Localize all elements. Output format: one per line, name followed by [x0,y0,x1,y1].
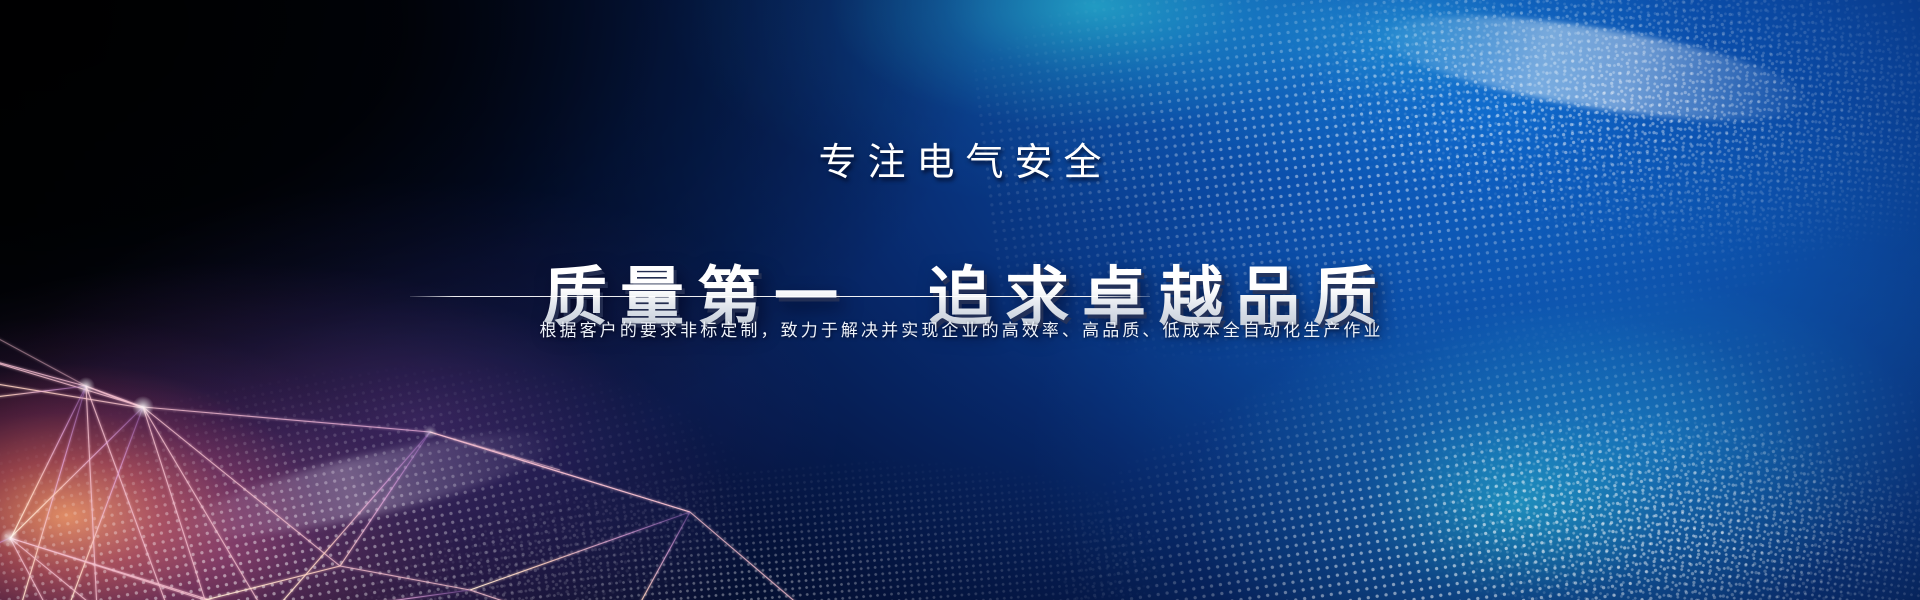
hero-banner: 专注电气安全 质量第一 追求卓越品质 根据客户的要求非标定制，致力于解决并实现企… [0,0,1920,600]
banner-eyebrow-text: 专注电气安全 [0,131,1920,186]
headline-divider [410,296,1150,297]
banner-content: 专注电气安全 质量第一 追求卓越品质 根据客户的要求非标定制，致力于解决并实现企… [0,0,1920,600]
banner-subtitle: 根据客户的要求非标定制，致力于解决并实现企业的高效率、高品质、低成本全自动化生产… [0,316,1920,341]
